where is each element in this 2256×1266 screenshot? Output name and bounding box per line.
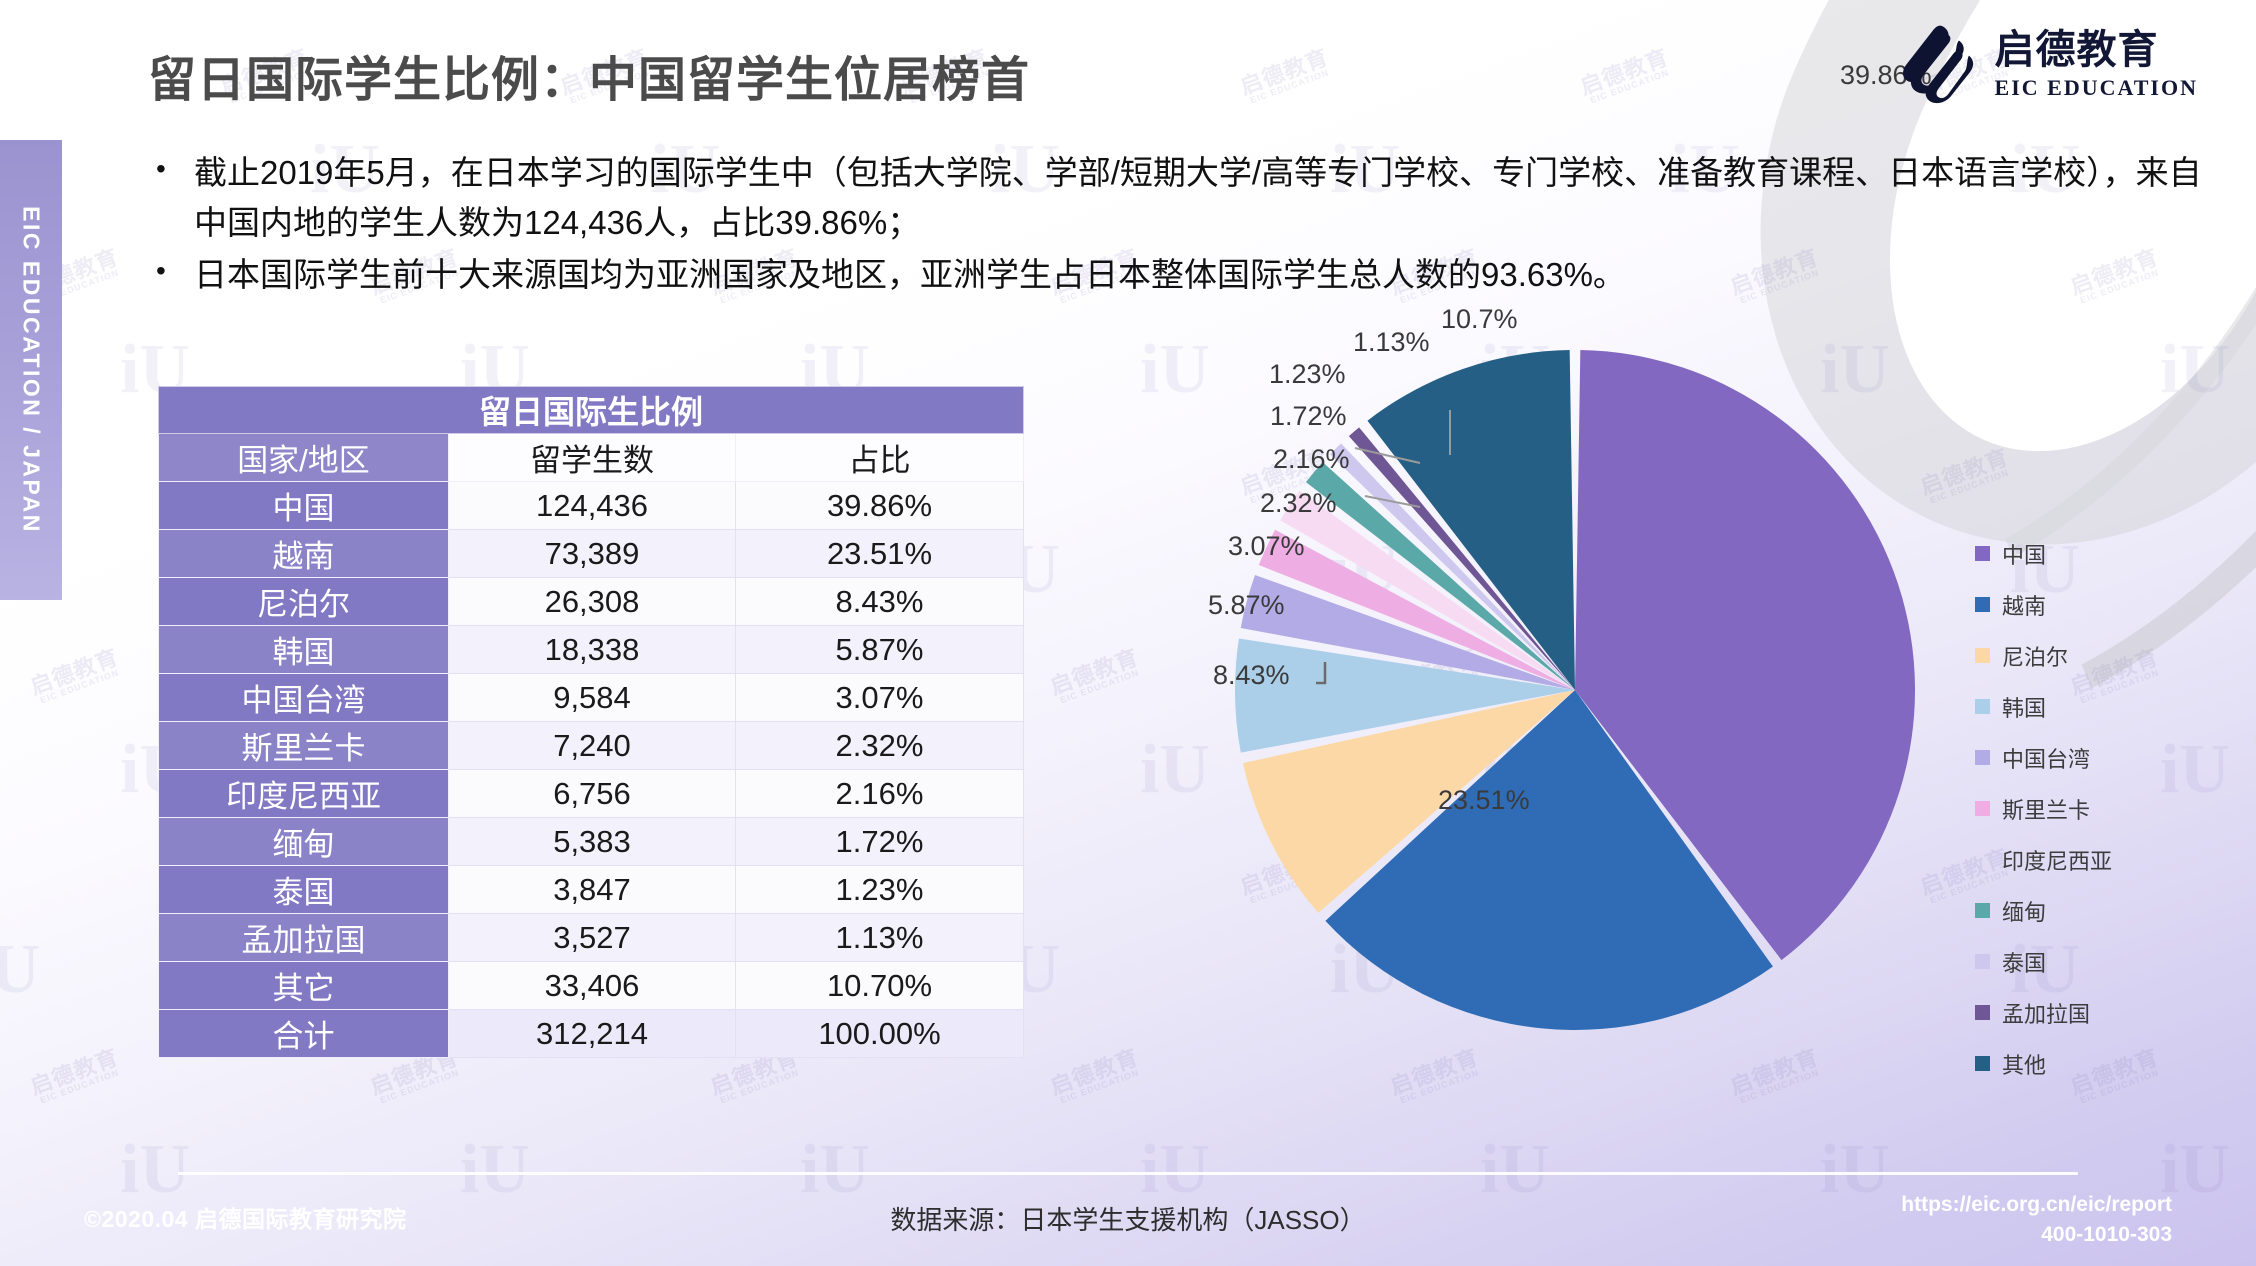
legend-item[interactable]: 中国台湾 — [1975, 732, 2112, 783]
legend-label: 其他 — [2002, 1048, 2046, 1080]
column-header-region: 国家/地区 — [159, 434, 449, 482]
cell-share: 39.86% — [736, 482, 1024, 530]
footer: ©2020.04 启德国际教育研究院 数据来源：日本学生支援机构（JASSO） … — [0, 1154, 2256, 1266]
table-row: 中国台湾9,5843.07% — [159, 674, 1024, 722]
table-title: 留日国际生比例 — [159, 387, 1024, 434]
legend-item[interactable]: 缅甸 — [1975, 885, 2112, 936]
pie-slice-label: 10.7% — [1441, 304, 1518, 335]
table-row: 泰国3,8471.23% — [159, 866, 1024, 914]
watermark-text: 启德教育EIC EDUCATION — [1577, 45, 1675, 107]
cell-region: 中国台湾 — [159, 674, 449, 722]
cell-share: 10.70% — [736, 962, 1024, 1010]
legend-color-swatch — [1975, 1056, 1990, 1071]
footer-divider — [178, 1172, 2078, 1175]
cell-share: 5.87% — [736, 626, 1024, 674]
legend-item[interactable]: 斯里兰卡 — [1975, 783, 2112, 834]
cell-students: 18,338 — [449, 626, 736, 674]
sidebar-label: EIC EDUCATION / JAPAN — [18, 206, 45, 534]
cell-students: 312,214 — [449, 1010, 736, 1058]
cell-students: 26,308 — [449, 578, 736, 626]
cell-region: 泰国 — [159, 866, 449, 914]
watermark-text: 启德教育EIC EDUCATION — [1237, 45, 1335, 107]
table-header-row: 国家/地区 留学生数 占比 — [159, 434, 1024, 482]
table-row: 中国124,43639.86% — [159, 482, 1024, 530]
pie-slice-label: 23.51% — [1438, 785, 1530, 816]
sidebar-vertical-band: EIC EDUCATION / JAPAN — [0, 140, 62, 600]
watermark-text: 启德教育EIC EDUCATION — [27, 1045, 125, 1107]
legend-item[interactable]: 韩国 — [1975, 681, 2112, 732]
pie-slice-label: 1.23% — [1269, 359, 1346, 390]
legend-color-swatch — [1975, 597, 1990, 612]
table-row: 印度尼西亚6,7562.16% — [159, 770, 1024, 818]
pie-slice-label: 1.72% — [1270, 401, 1347, 432]
legend-color-swatch — [1975, 699, 1990, 714]
legend-label: 韩国 — [2002, 691, 2046, 723]
cell-share: 23.51% — [736, 530, 1024, 578]
legend-color-swatch — [1975, 1005, 1990, 1020]
chart-legend: 中国越南尼泊尔韩国中国台湾斯里兰卡印度尼西亚缅甸泰国孟加拉国其他 — [1975, 528, 2112, 1089]
cell-region: 合计 — [159, 1010, 449, 1058]
legend-color-swatch — [1975, 750, 1990, 765]
slide-canvas: 启德教育EIC EDUCATIONiU启德教育EIC EDUCATIONiU启德… — [0, 0, 2256, 1266]
cell-share: 2.16% — [736, 770, 1024, 818]
cell-share: 100.00% — [736, 1010, 1024, 1058]
logo-name-en: EIC EDUCATION — [1995, 77, 2198, 99]
table-row: 尼泊尔26,3088.43% — [159, 578, 1024, 626]
legend-item[interactable]: 越南 — [1975, 579, 2112, 630]
legend-color-swatch — [1975, 903, 1990, 918]
cell-students: 3,527 — [449, 914, 736, 962]
eic-logo-mark-icon — [1895, 22, 1979, 106]
bullet-marker-icon: • — [148, 250, 194, 293]
cell-share: 8.43% — [736, 578, 1024, 626]
pie-slice-label: 5.87% — [1208, 590, 1285, 621]
legend-label: 泰国 — [2002, 946, 2046, 978]
table-row: 韩国18,3385.87% — [159, 626, 1024, 674]
data-table: 留日国际生比例 国家/地区 留学生数 占比 中国124,43639.86%越南7… — [158, 386, 1023, 1058]
cell-students: 124,436 — [449, 482, 736, 530]
list-item: • 日本国际学生前十大来源国均为亚洲国家及地区，亚洲学生占日本整体国际学生总人数… — [148, 250, 2208, 300]
legend-color-swatch — [1975, 546, 1990, 561]
list-item: • 截止2019年5月，在日本学习的国际学生中（包括大学院、学部/短期大学/高等… — [148, 148, 2208, 248]
legend-item[interactable]: 印度尼西亚 — [1975, 834, 2112, 885]
cell-students: 6,756 — [449, 770, 736, 818]
cell-share: 1.72% — [736, 818, 1024, 866]
cell-region: 尼泊尔 — [159, 578, 449, 626]
cell-region: 中国 — [159, 482, 449, 530]
cell-share: 1.23% — [736, 866, 1024, 914]
cell-students: 33,406 — [449, 962, 736, 1010]
bullet-list: • 截止2019年5月，在日本学习的国际学生中（包括大学院、学部/短期大学/高等… — [148, 148, 2208, 302]
pie-slice-label: 8.43% — [1213, 660, 1290, 691]
pie-slice-label: 1.13% — [1353, 327, 1430, 358]
legend-item[interactable]: 其他 — [1975, 1038, 2112, 1089]
brand-logo: 启德教育 EIC EDUCATION — [1895, 22, 2198, 106]
legend-label: 斯里兰卡 — [2002, 793, 2090, 825]
legend-label: 孟加拉国 — [2002, 997, 2090, 1029]
table-title-row: 留日国际生比例 — [159, 387, 1024, 434]
cell-share: 3.07% — [736, 674, 1024, 722]
legend-label: 中国台湾 — [2002, 742, 2090, 774]
legend-label: 缅甸 — [2002, 895, 2046, 927]
students-table: 留日国际生比例 国家/地区 留学生数 占比 中国124,43639.86%越南7… — [158, 386, 1024, 1058]
table-row: 缅甸5,3831.72% — [159, 818, 1024, 866]
watermark-logo-glyph: iU — [0, 930, 40, 1010]
pie-slice-label: 2.32% — [1260, 488, 1337, 519]
legend-color-swatch — [1975, 801, 1990, 816]
footer-url[interactable]: https://eic.org.cn/eic/report — [1901, 1190, 2172, 1220]
footer-data-source: 数据来源：日本学生支援机构（JASSO） — [890, 1200, 1365, 1237]
bullet-text: 日本国际学生前十大来源国均为亚洲国家及地区，亚洲学生占日本整体国际学生总人数的9… — [194, 250, 2208, 300]
cell-share: 2.32% — [736, 722, 1024, 770]
cell-region: 其它 — [159, 962, 449, 1010]
bullet-marker-icon: • — [148, 148, 194, 191]
cell-students: 73,389 — [449, 530, 736, 578]
column-header-share: 占比 — [736, 434, 1024, 482]
legend-item[interactable]: 中国 — [1975, 528, 2112, 579]
cell-region: 孟加拉国 — [159, 914, 449, 962]
watermark-text: 启德教育EIC EDUCATION — [27, 645, 125, 707]
logo-name-cn: 启德教育 — [1995, 30, 2198, 70]
table-row: 其它33,40610.70% — [159, 962, 1024, 1010]
cell-region: 缅甸 — [159, 818, 449, 866]
cell-students: 3,847 — [449, 866, 736, 914]
pie-slice-label: 2.16% — [1273, 444, 1350, 475]
table-total-row: 合计312,214100.00% — [159, 1010, 1024, 1058]
pie-slice-label: 3.07% — [1228, 531, 1305, 562]
bullet-text: 截止2019年5月，在日本学习的国际学生中（包括大学院、学部/短期大学/高等专门… — [194, 148, 2208, 248]
legend-label: 印度尼西亚 — [2002, 844, 2112, 876]
cell-region: 印度尼西亚 — [159, 770, 449, 818]
column-header-students: 留学生数 — [449, 434, 736, 482]
cell-students: 7,240 — [449, 722, 736, 770]
footer-phone: 400-1010-303 — [1901, 1220, 2172, 1250]
legend-label: 尼泊尔 — [2002, 640, 2068, 672]
cell-students: 9,584 — [449, 674, 736, 722]
legend-label: 中国 — [2002, 538, 2046, 570]
legend-color-swatch — [1975, 954, 1990, 969]
table-row: 越南73,38923.51% — [159, 530, 1024, 578]
cell-region: 韩国 — [159, 626, 449, 674]
legend-item[interactable]: 尼泊尔 — [1975, 630, 2112, 681]
cell-share: 1.13% — [736, 914, 1024, 962]
table-body: 中国124,43639.86%越南73,38923.51%尼泊尔26,3088.… — [159, 482, 1024, 1058]
footer-contact: https://eic.org.cn/eic/report 400-1010-3… — [1901, 1190, 2172, 1251]
table-row: 斯里兰卡7,2402.32% — [159, 722, 1024, 770]
legend-color-swatch — [1975, 648, 1990, 663]
cell-region: 斯里兰卡 — [159, 722, 449, 770]
legend-label: 越南 — [2002, 589, 2046, 621]
legend-item[interactable]: 泰国 — [1975, 936, 2112, 987]
table-row: 孟加拉国3,5271.13% — [159, 914, 1024, 962]
footer-copyright: ©2020.04 启德国际教育研究院 — [84, 1200, 406, 1234]
legend-item[interactable]: 孟加拉国 — [1975, 987, 2112, 1038]
page-title: 留日国际学生比例：中国留学生位居榜首 — [148, 40, 1030, 110]
cell-students: 5,383 — [449, 818, 736, 866]
cell-region: 越南 — [159, 530, 449, 578]
